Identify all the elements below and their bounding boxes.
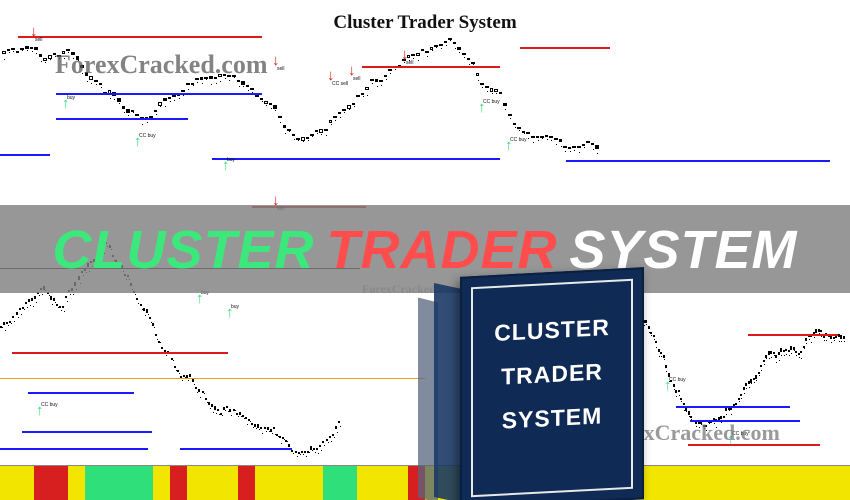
signal-label: buy	[231, 304, 239, 310]
signal-label: CC buy	[510, 137, 527, 143]
level-support	[212, 158, 500, 160]
signal-label: sell	[353, 76, 361, 82]
histogram-segment	[714, 466, 731, 500]
banner-word-2: TRADER	[326, 219, 557, 281]
signal-label: CC buy	[483, 99, 500, 105]
level-resistance	[18, 36, 262, 38]
histogram-segment	[306, 466, 323, 500]
histogram-segment	[357, 466, 374, 500]
banner-word-1: CLUSTER	[52, 219, 314, 281]
histogram-segment	[731, 466, 748, 500]
histogram-segment	[51, 466, 68, 500]
level-support	[676, 406, 790, 408]
level-support	[566, 160, 830, 162]
signal-label: sell	[277, 66, 285, 72]
product-box-side	[434, 283, 462, 500]
screenshot-root: ↓sell↓sell↓CC sell↓sell↓sell↓sell↑buy↑CC…	[0, 0, 850, 500]
signal-label: CC buy	[139, 133, 156, 139]
histogram-segment	[187, 466, 204, 500]
histogram-segment	[697, 466, 714, 500]
histogram-segment	[765, 466, 782, 500]
histogram-segment	[68, 466, 85, 500]
level-resistance	[520, 47, 610, 49]
histogram-segment	[799, 466, 816, 500]
histogram-segment	[255, 466, 272, 500]
watermark-primary: ForexCracked.com	[55, 50, 268, 80]
histogram-segment	[782, 466, 799, 500]
product-box-text: CLUSTER TRADER SYSTEM	[462, 303, 642, 444]
histogram-segment	[85, 466, 102, 500]
histogram-segment	[204, 466, 221, 500]
histogram-segment	[221, 466, 238, 500]
histogram-segment	[646, 466, 663, 500]
histogram-segment	[323, 466, 340, 500]
level-support	[180, 448, 292, 450]
signal-label: sell	[35, 37, 43, 43]
signal-label: sell	[406, 60, 414, 66]
promo-banner-text: CLUSTER TRADER SYSTEM	[0, 222, 850, 278]
product-box-line-3: SYSTEM	[462, 391, 642, 444]
signal-label: CC buy	[669, 377, 686, 383]
level-resistance	[12, 352, 228, 354]
histogram-segment	[170, 466, 187, 500]
histogram-segment	[289, 466, 306, 500]
histogram-segment	[272, 466, 289, 500]
histogram-segment	[680, 466, 697, 500]
level-support	[22, 431, 152, 433]
chart-title: Cluster Trader System	[0, 12, 850, 34]
level-support	[56, 118, 188, 120]
histogram-segment	[833, 466, 850, 500]
histogram-segment	[17, 466, 34, 500]
signal-label: CC buy	[41, 402, 58, 408]
histogram-segment	[340, 466, 357, 500]
histogram-segment	[663, 466, 680, 500]
level-support	[0, 448, 148, 450]
histogram-segment	[119, 466, 136, 500]
level-resistance	[748, 334, 838, 336]
level-mid	[0, 378, 425, 379]
level-support	[56, 93, 262, 95]
level-resistance	[362, 66, 500, 68]
histogram-segment	[238, 466, 255, 500]
signal-label: buy	[67, 95, 75, 101]
histogram-segment	[102, 466, 119, 500]
histogram-segment	[153, 466, 170, 500]
histogram-segment	[748, 466, 765, 500]
histogram-segment	[816, 466, 833, 500]
histogram-segment	[136, 466, 153, 500]
signal-label: buy	[227, 157, 235, 163]
histogram-segment	[374, 466, 391, 500]
histogram-segment	[391, 466, 408, 500]
signal-label: CC sell	[332, 81, 348, 87]
histogram-segment	[0, 466, 17, 500]
product-box: CLUSTER TRADER SYSTEM	[460, 267, 644, 500]
level-support	[0, 154, 50, 156]
histogram-segment	[34, 466, 51, 500]
level-support	[28, 392, 134, 394]
